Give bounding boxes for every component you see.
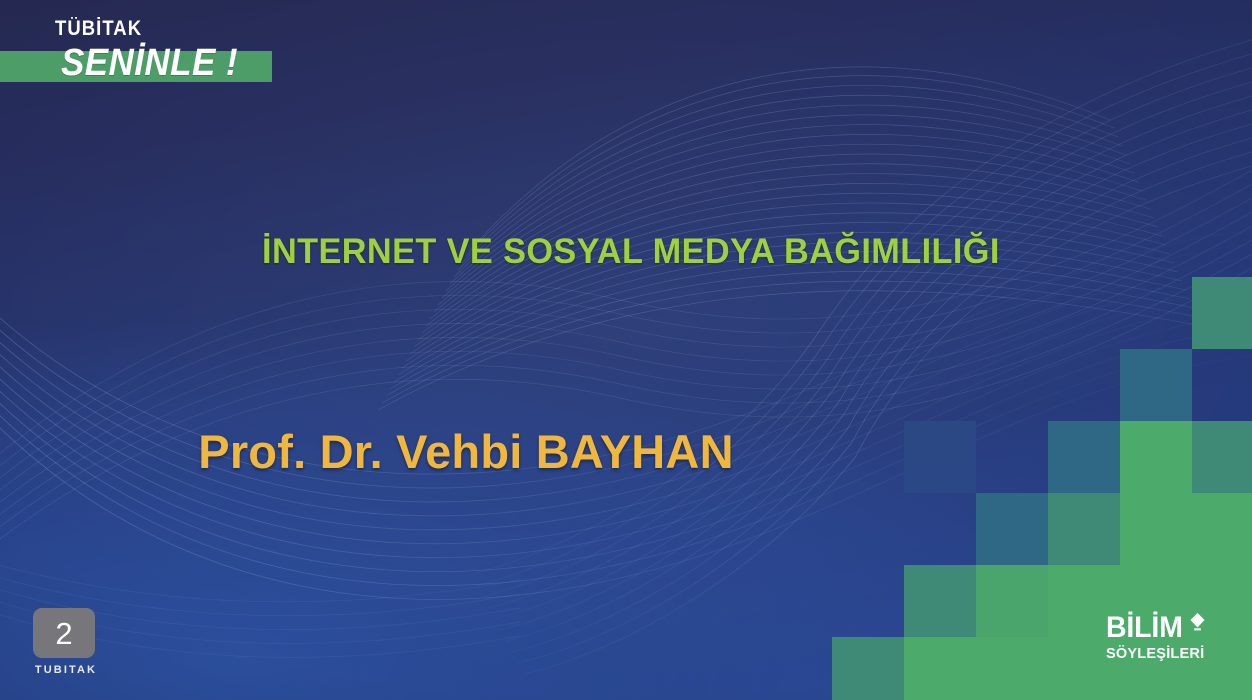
- page-number-square: 2: [33, 608, 95, 658]
- page-title: İNTERNET VE SOSYAL MEDYA BAĞIMLILIĞI: [13, 232, 1240, 272]
- brand-main-label: SENİNLE !: [61, 44, 238, 82]
- speaker-name: Prof. Dr. Vehbi BAYHAN: [0, 424, 1252, 479]
- brand-top-label: TÜBİTAK: [55, 18, 142, 39]
- tubitak-seninle-logo: TÜBİTAK SENİNLE !: [0, 8, 330, 94]
- page-badge-caption: TUBITAK: [30, 664, 102, 676]
- bilim-soylesileri-logo: BİLİM SÖYLEŞİLERİ: [1106, 612, 1238, 674]
- page-number: 2: [55, 618, 72, 649]
- lightbulb-icon: [1189, 612, 1206, 638]
- slide-vignette: [0, 0, 1252, 700]
- bilim-logo-main: BİLİM: [1106, 614, 1183, 643]
- bilim-logo-sub: SÖYLEŞİLERİ: [1106, 646, 1234, 661]
- page-number-badge: 2 TUBITAK: [30, 608, 120, 686]
- presentation-slide: TÜBİTAK SENİNLE ! İNTERNET VE SOSYAL MED…: [0, 0, 1252, 700]
